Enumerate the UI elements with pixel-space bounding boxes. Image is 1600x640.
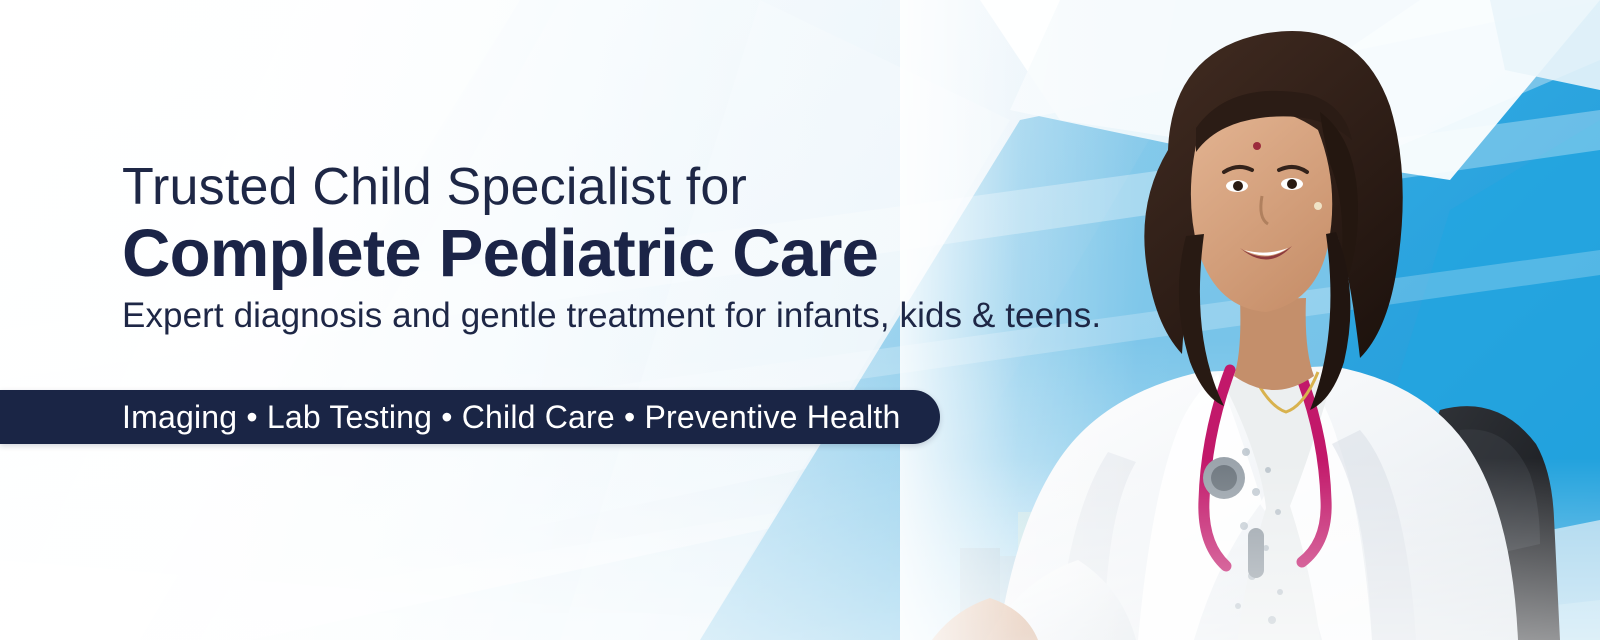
bindi [1253,142,1261,150]
neck [1234,298,1314,390]
subheadline: Expert diagnosis and gentle treatment fo… [122,296,1152,337]
services-list-text: Imaging • Lab Testing • Child Care • Pre… [122,399,900,436]
earring [1314,202,1322,210]
headline-line-1: Trusted Child Specialist for [122,160,1152,214]
services-pill-bar: Imaging • Lab Testing • Child Care • Pre… [0,390,940,444]
hero-banner: Trusted Child Specialist for Complete Pe… [0,0,1600,640]
headline-block: Trusted Child Specialist for Complete Pe… [122,160,1152,337]
headline-line-2: Complete Pediatric Care [122,218,1152,290]
